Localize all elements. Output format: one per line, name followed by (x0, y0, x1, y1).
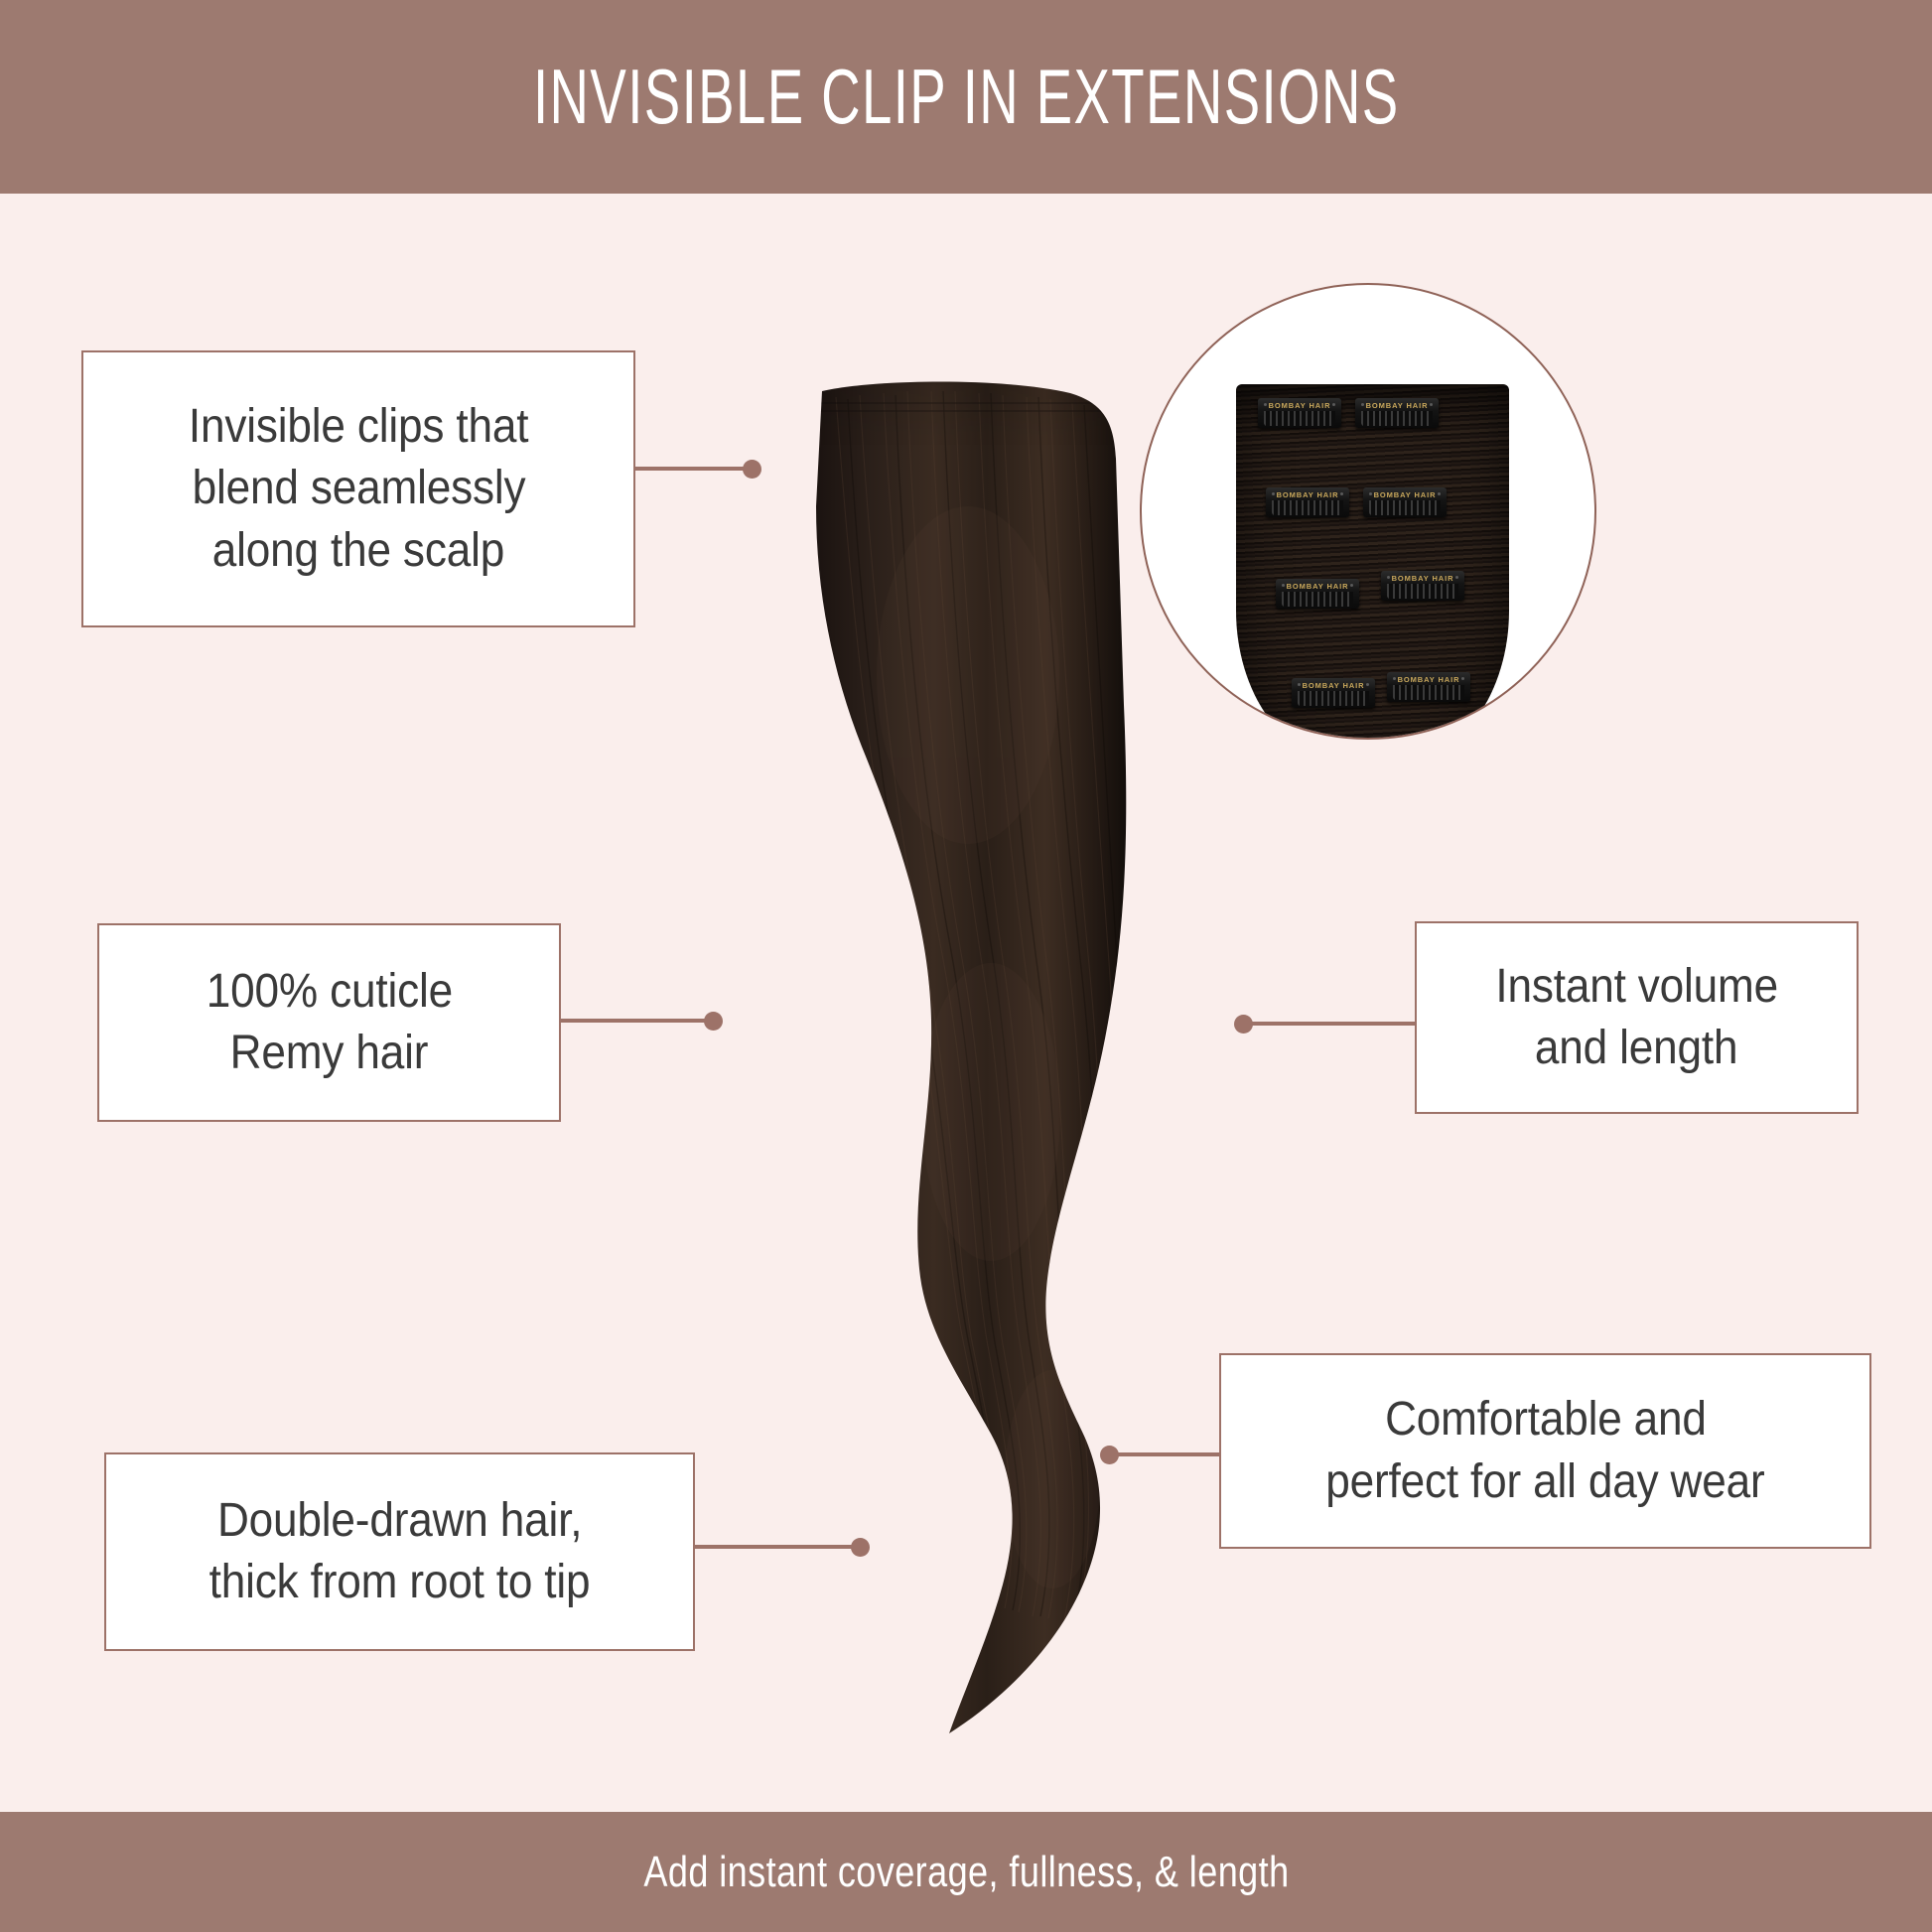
clip-rivet-icon (1264, 403, 1267, 406)
clip-rivet-icon (1369, 492, 1372, 495)
hair-clip: BOMBAY HAIR (1292, 678, 1375, 708)
callout-line: Instant volume (1495, 956, 1778, 1018)
clip-teeth-icon (1272, 500, 1343, 515)
connector-line-instant-volume (1243, 1022, 1417, 1026)
clip-rivet-icon (1298, 683, 1301, 686)
clip-rivet-icon (1361, 403, 1364, 406)
callout-line: blend seamlessly (192, 458, 525, 519)
clip-rivet-icon (1387, 576, 1390, 579)
footer-tagline: Add instant coverage, fullness, & length (643, 1848, 1289, 1897)
callout-remy-hair: 100% cuticle Remy hair (97, 923, 561, 1122)
connector-line-remy-hair (561, 1019, 715, 1023)
clip-weft-photo: BOMBAY HAIR BOMBAY HAIR BOMBAY HAIR BOMB… (1236, 384, 1509, 740)
connector-line-comfortable (1109, 1452, 1221, 1456)
callout-double-drawn: Double-drawn hair, thick from root to ti… (104, 1452, 695, 1651)
callout-line: 100% cuticle (206, 961, 452, 1023)
callout-line: Comfortable and (1385, 1389, 1707, 1450)
callout-line: and length (1535, 1018, 1737, 1079)
callout-line: along the scalp (212, 520, 504, 582)
clip-teeth-icon (1264, 411, 1335, 426)
clip-rivet-icon (1455, 576, 1458, 579)
clip-rivet-icon (1366, 683, 1369, 686)
header-bar: INVISIBLE CLIP IN EXTENSIONS (0, 0, 1932, 194)
clip-brand-label: BOMBAY HAIR (1287, 582, 1349, 591)
clip-teeth-icon (1369, 500, 1441, 515)
clip-detail-circle-inset: BOMBAY HAIR BOMBAY HAIR BOMBAY HAIR BOMB… (1140, 283, 1596, 740)
clip-teeth-icon (1298, 691, 1369, 706)
callout-instant-volume: Instant volume and length (1415, 921, 1859, 1114)
hair-clip: BOMBAY HAIR (1266, 487, 1349, 517)
clip-brand-label: BOMBAY HAIR (1269, 401, 1331, 410)
clip-rivet-icon (1430, 403, 1433, 406)
callout-invisible-clips: Invisible clips that blend seamlessly al… (81, 350, 635, 627)
clip-brand-label: BOMBAY HAIR (1277, 490, 1339, 499)
callout-comfortable: Comfortable and perfect for all day wear (1219, 1353, 1871, 1549)
connector-dot-icon (1234, 1015, 1253, 1034)
hair-clip: BOMBAY HAIR (1387, 672, 1470, 702)
page-title: INVISIBLE CLIP IN EXTENSIONS (533, 52, 1400, 142)
hair-clip: BOMBAY HAIR (1276, 579, 1359, 609)
product-hair-image (755, 377, 1191, 1747)
clip-rivet-icon (1461, 677, 1464, 680)
clip-brand-label: BOMBAY HAIR (1366, 401, 1429, 410)
footer-bar: Add instant coverage, fullness, & length (0, 1812, 1932, 1932)
clip-rivet-icon (1340, 492, 1343, 495)
clip-brand-label: BOMBAY HAIR (1303, 681, 1365, 690)
clip-rivet-icon (1438, 492, 1441, 495)
connector-line-invisible-clips (635, 467, 753, 471)
clip-brand-label: BOMBAY HAIR (1392, 574, 1454, 583)
hair-clip: BOMBAY HAIR (1355, 398, 1439, 428)
clip-rivet-icon (1332, 403, 1335, 406)
callout-line: perfect for all day wear (1325, 1451, 1764, 1513)
connector-dot-icon (851, 1538, 870, 1557)
hair-clip: BOMBAY HAIR (1381, 571, 1464, 601)
hair-clip: BOMBAY HAIR (1258, 398, 1341, 428)
clip-brand-label: BOMBAY HAIR (1398, 675, 1460, 684)
clip-teeth-icon (1393, 685, 1464, 700)
connector-line-double-drawn (695, 1545, 862, 1549)
connector-dot-icon (704, 1012, 723, 1031)
connector-dot-icon (1100, 1446, 1119, 1464)
callout-line: Double-drawn hair, (217, 1490, 582, 1552)
clip-rivet-icon (1282, 584, 1285, 587)
callout-line: Remy hair (230, 1023, 429, 1084)
callout-line: thick from root to tip (209, 1552, 591, 1613)
clip-rivet-icon (1272, 492, 1275, 495)
callout-line: Invisible clips that (189, 396, 528, 458)
connector-dot-icon (743, 460, 761, 479)
clip-rivet-icon (1350, 584, 1353, 587)
clip-brand-label: BOMBAY HAIR (1374, 490, 1437, 499)
clip-teeth-icon (1387, 584, 1458, 599)
clip-teeth-icon (1282, 592, 1353, 607)
clip-teeth-icon (1361, 411, 1433, 426)
clip-rivet-icon (1393, 677, 1396, 680)
hair-clip: BOMBAY HAIR (1363, 487, 1447, 517)
